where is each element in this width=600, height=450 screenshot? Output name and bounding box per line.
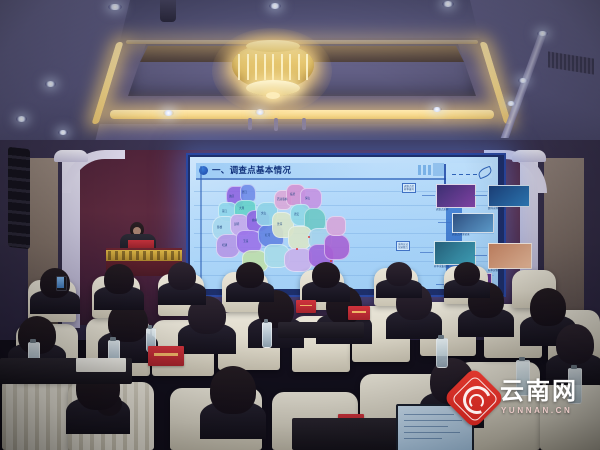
downlight-icon — [163, 110, 174, 116]
chandelier-rib — [281, 54, 283, 80]
ceiling-hook — [248, 118, 252, 130]
audience-head — [168, 262, 196, 290]
chandelier-rib — [255, 54, 257, 80]
document-paper — [76, 358, 126, 372]
audience-head — [312, 262, 340, 288]
slide-thumbnail — [452, 213, 494, 233]
thumbnail-caption: 野外水体调查点 — [488, 206, 506, 210]
ceiling-hook — [274, 118, 278, 131]
slide-tag-box: 调查点位样本编号 — [402, 183, 416, 193]
arch-capital-right — [512, 150, 546, 162]
conference-table — [278, 322, 364, 338]
audience-head — [386, 262, 412, 286]
slide-thumbnail — [436, 184, 476, 208]
conference-hall-photo: 一、调查点基本情况 迪庆怒江丽江大理楚雄昆明曲靖昭通玉溪红河文山普洱西双版纳临沧… — [0, 0, 600, 450]
bottle-cap — [30, 339, 36, 343]
bottle-cap — [110, 337, 116, 341]
audience-chair — [2, 374, 74, 450]
thumbnail-leader-line — [474, 255, 487, 256]
podium-banner-text — [108, 251, 180, 260]
slide-thumbnail — [488, 185, 530, 207]
bottle-cap — [264, 319, 268, 323]
audience-head — [556, 324, 594, 364]
chandelier-top-ring — [246, 40, 300, 52]
audience-head — [104, 264, 134, 294]
downlight-icon — [442, 1, 455, 7]
downlight-icon — [518, 78, 529, 84]
watermark: 云南网 YUNNAN.CN — [452, 372, 598, 428]
line-array-speaker — [8, 147, 30, 249]
downlight-icon — [108, 4, 122, 11]
thumbnail-leader-line — [420, 252, 433, 253]
smartphone-screen — [57, 277, 64, 288]
arch-capital-left — [54, 150, 88, 162]
table-name-card — [348, 306, 370, 320]
chandelier-rib — [272, 54, 274, 80]
slide-tag-box: 采样方法记录要点 — [396, 241, 410, 251]
thumbnail-leader-line — [474, 195, 487, 196]
chandelier-rib — [306, 54, 308, 80]
downlight-icon — [58, 130, 68, 135]
tag-box-line: 样本编号 — [404, 188, 414, 191]
downlight-icon — [269, 3, 282, 9]
ceiling — [0, 0, 600, 142]
thumbnail-leader-line — [422, 195, 435, 196]
table-name-card — [296, 300, 316, 313]
chandelier-rib — [247, 54, 249, 80]
watermark-text-en: YUNNAN.CN — [501, 406, 572, 416]
watermark-text-cn: 云南网 — [500, 378, 578, 406]
audience-head — [236, 262, 264, 288]
chandelier-rib — [264, 54, 266, 80]
thumbnail-caption: 调查点环境记录 — [452, 232, 470, 236]
audience-head — [454, 262, 480, 286]
logo-swirl-inner-icon — [469, 394, 484, 409]
table-name-card — [148, 346, 184, 366]
bottle-cap — [148, 325, 152, 329]
downlight-icon — [16, 116, 27, 122]
audience-head — [210, 366, 256, 414]
chandelier-rib — [298, 54, 300, 80]
downlight-icon — [506, 101, 516, 106]
bottle-cap — [438, 335, 444, 339]
bottle-cap — [571, 365, 578, 369]
chandelier-rib — [289, 54, 291, 80]
thumbnail-caption: 调查点采样 — [436, 207, 449, 211]
conference-table — [292, 418, 412, 450]
ceiling-hook — [302, 118, 306, 130]
chandelier-rib — [238, 54, 240, 80]
bottle-cap — [519, 357, 526, 361]
tag-box-line: 记录要点 — [398, 246, 408, 249]
thumbnail-leader-line — [438, 222, 451, 223]
downlight-icon — [45, 81, 56, 87]
water-bottle — [436, 338, 448, 368]
audience-head — [530, 288, 566, 326]
chandelier-drop — [266, 92, 280, 99]
downlight-icon — [432, 107, 443, 113]
water-bottle — [262, 322, 272, 348]
downlight-icon — [537, 31, 548, 37]
